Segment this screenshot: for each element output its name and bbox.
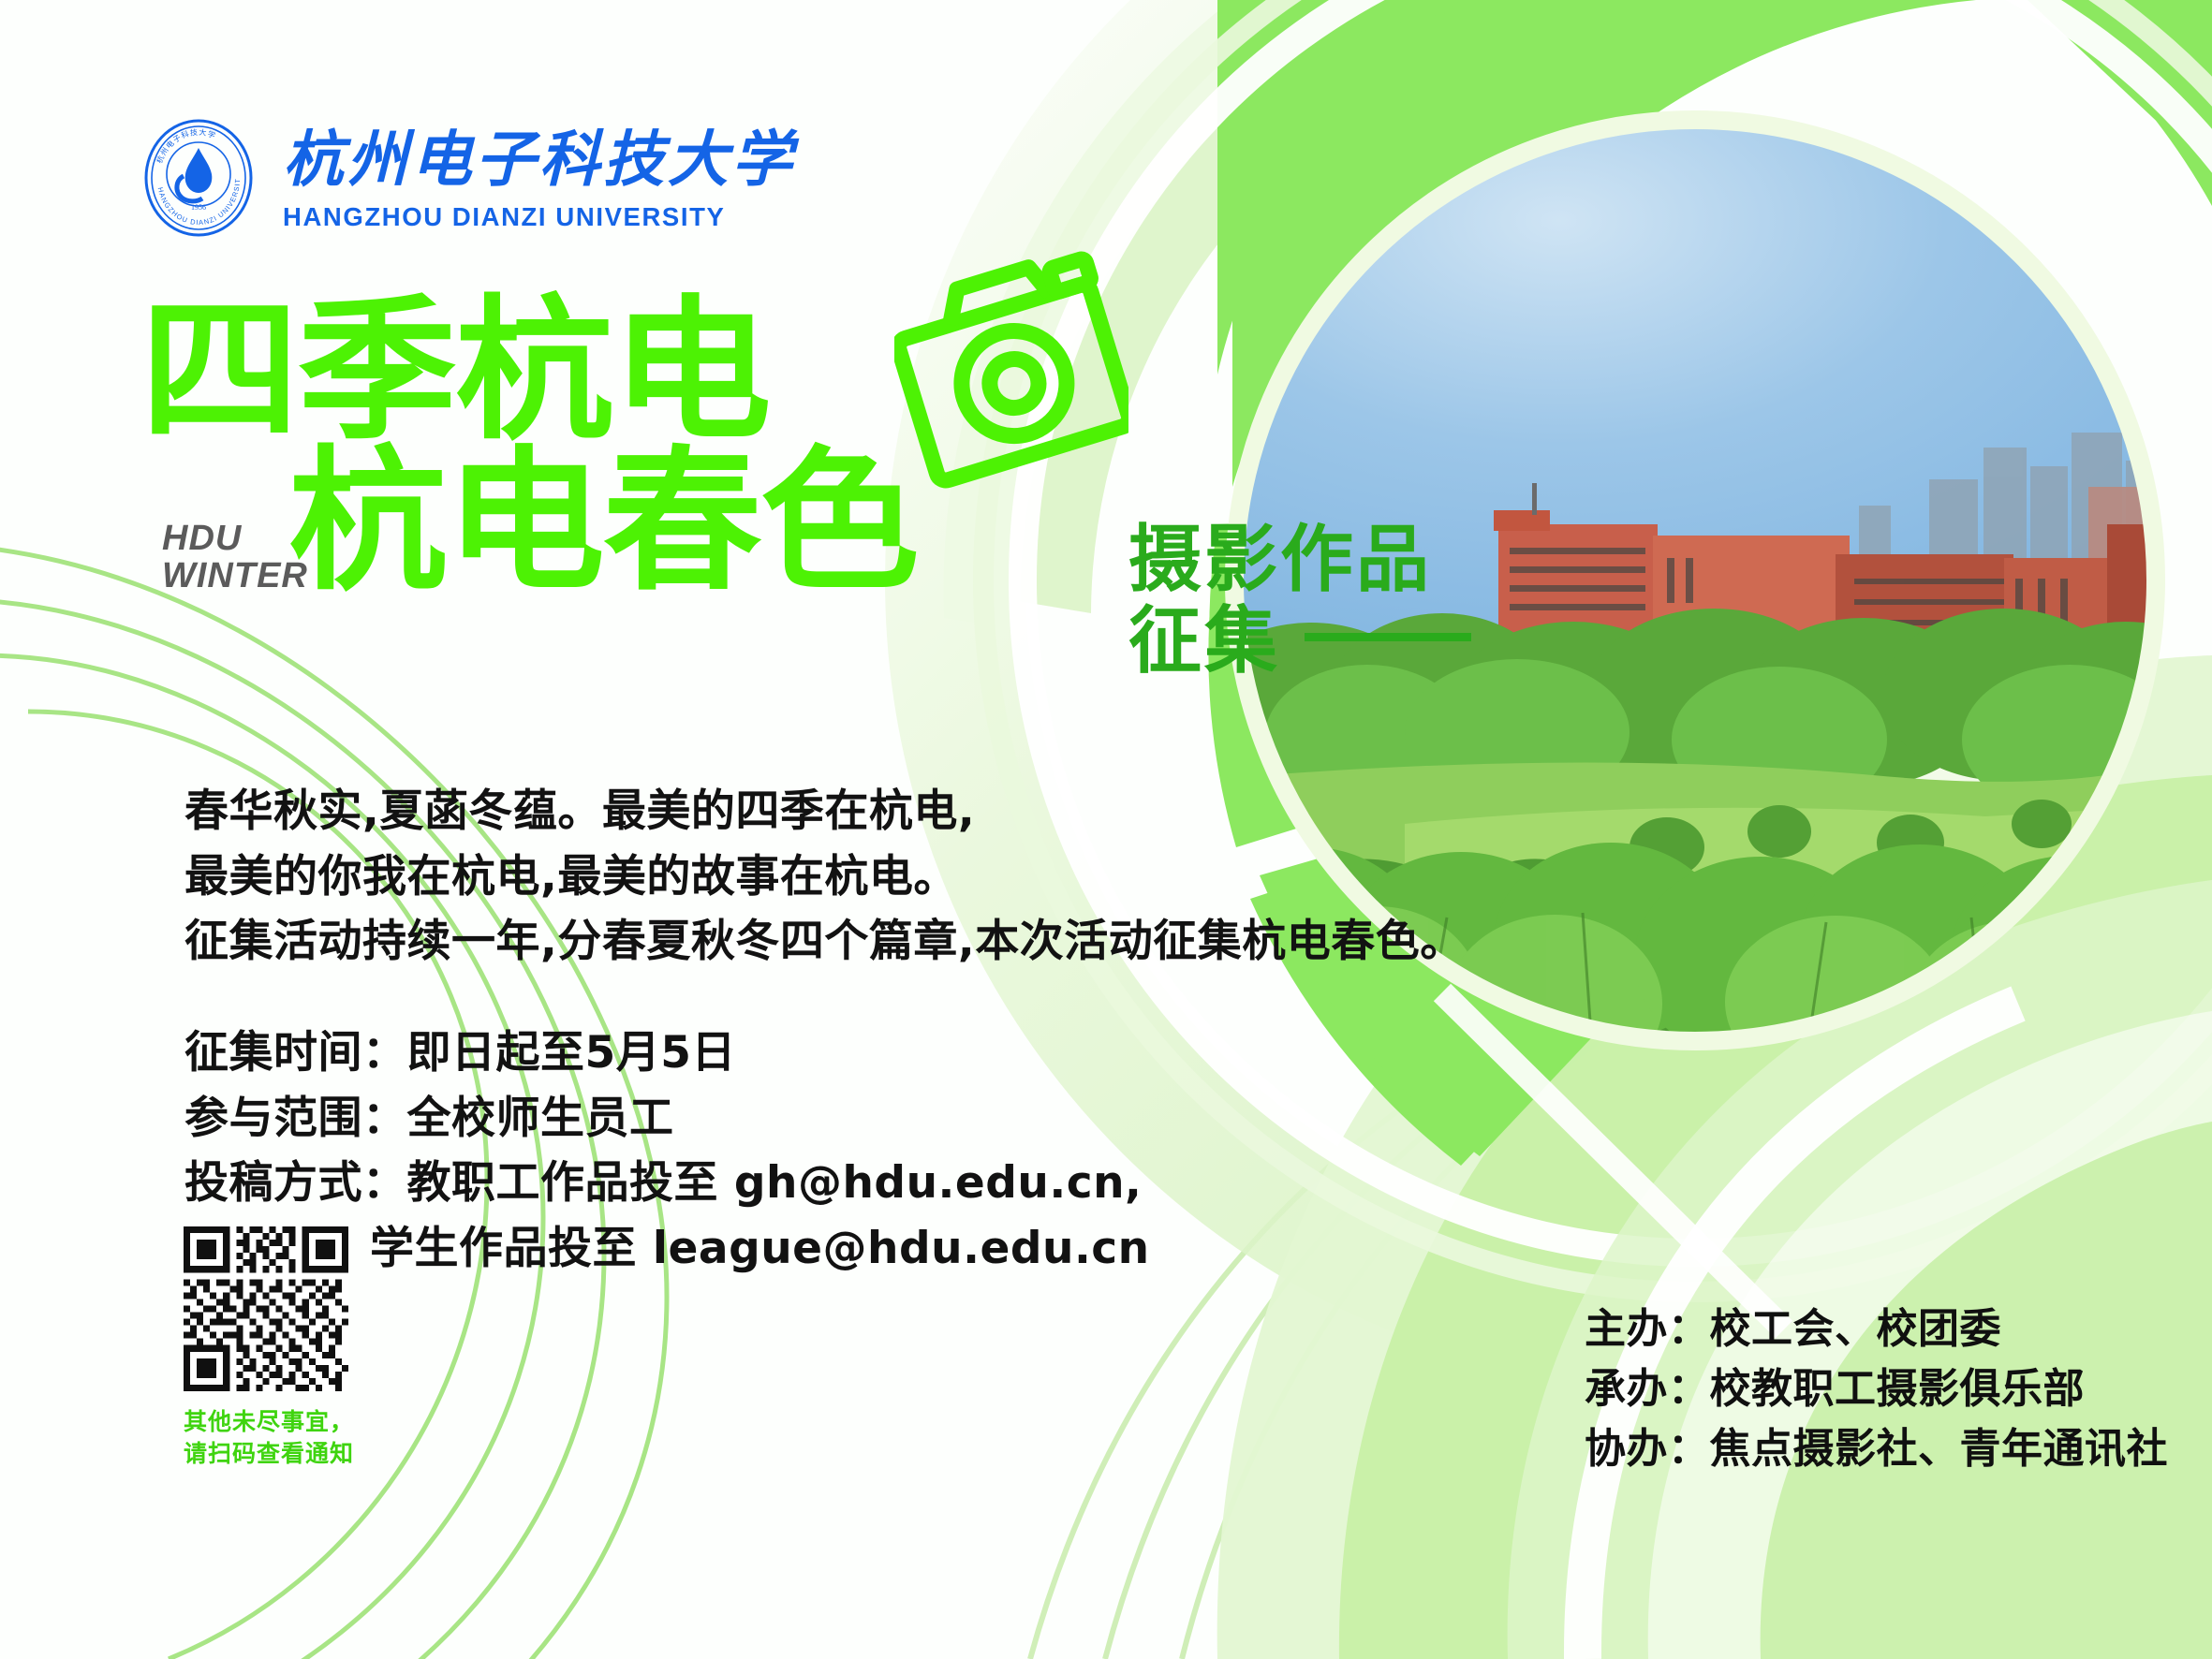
qr-code-image[interactable] bbox=[184, 1226, 348, 1391]
subheadline-line-2: 征集 bbox=[1128, 599, 1280, 683]
headline-line-1: 四季杭电 bbox=[140, 300, 922, 443]
university-name-en: HANGZHOU DIANZI UNIVERSITY bbox=[283, 204, 803, 230]
lede-line: 征集活动持续一年,分春夏秋冬四个篇章,本次活动征集杭电春色。 bbox=[184, 909, 1465, 975]
organizer-partner: 协办：焦点摄影社、青年通讯社 bbox=[1585, 1419, 2168, 1479]
organizer-credits: 主办：校工会、校团委 承办：校教职工摄影俱乐部 协办：焦点摄影社、青年通讯社 bbox=[1585, 1299, 2168, 1480]
subheadline-line-1: 摄影作品 bbox=[1128, 520, 1471, 601]
season-tag-line-1: HDU bbox=[162, 521, 308, 558]
detail-line-deadline: 征集时间：即日起至5月5日 bbox=[184, 1020, 1150, 1086]
organizer-host: 主办：校工会、校团委 bbox=[1585, 1299, 2168, 1359]
qr-caption: 其他未尽事宜， 请扫码查看通知 bbox=[184, 1406, 354, 1470]
season-tag-line-2: WINTER bbox=[162, 558, 308, 595]
university-name-cn-calligraphy: 杭州电子科技大学 bbox=[283, 126, 803, 196]
subheadline-line-2-wrap: 征集 bbox=[1128, 601, 1471, 683]
poster-canvas: 1956 HANGZHOU DIANZI UNIVERSITY 杭州电子科技大学… bbox=[0, 0, 2212, 1659]
university-name-cn-text: 杭州电子科技大学 bbox=[283, 126, 800, 194]
headline-line-2: 杭电春色 bbox=[288, 450, 918, 594]
lede-paragraph: 春华秋实,夏菡冬蕴。最美的四季在杭电, 最美的你我在杭电,最美的故事在杭电。 征… bbox=[184, 779, 1465, 975]
logo-wordmark: 杭州电子科技大学 HANGZHOU DIANZI UNIVERSITY bbox=[283, 126, 803, 230]
season-tag: HDU WINTER bbox=[162, 521, 308, 595]
university-logo: 1956 HANGZHOU DIANZI UNIVERSITY 杭州电子科技大学… bbox=[139, 118, 803, 238]
qr-caption-line-1: 其他未尽事宜， bbox=[184, 1406, 354, 1438]
qr-block: 其他未尽事宜， 请扫码查看通知 bbox=[184, 1226, 354, 1470]
detail-line-audience: 参与范围：全校师生员工 bbox=[184, 1086, 1150, 1152]
qr-caption-line-2: 请扫码查看通知 bbox=[184, 1438, 354, 1470]
subheadline-rule bbox=[1305, 633, 1471, 641]
svg-text:1956: 1956 bbox=[191, 203, 206, 212]
svg-text:杭州电子科技大学: 杭州电子科技大学 bbox=[155, 127, 218, 165]
organizer-operator: 承办：校教职工摄影俱乐部 bbox=[1585, 1359, 2168, 1419]
camera-icon bbox=[894, 251, 1128, 499]
lede-line: 最美的你我在杭电,最美的故事在杭电。 bbox=[184, 844, 1465, 910]
detail-line-submission-staff: 投稿方式：教职工作品投至 gh@hdu.edu.cn, bbox=[184, 1151, 1150, 1216]
university-seal-icon: 1956 HANGZHOU DIANZI UNIVERSITY 杭州电子科技大学 bbox=[139, 118, 258, 238]
subheadline: 摄影作品 征集 bbox=[1128, 520, 1471, 683]
lede-line: 春华秋实,夏菡冬蕴。最美的四季在杭电, bbox=[184, 779, 1465, 844]
